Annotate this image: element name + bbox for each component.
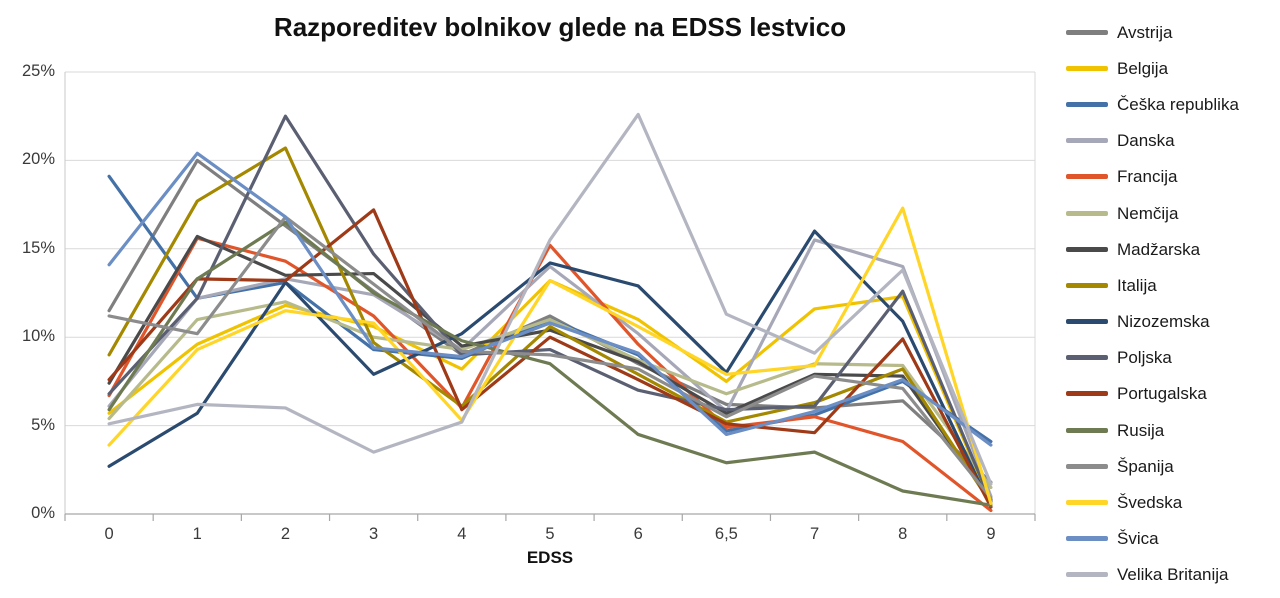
- legend-item[interactable]: Italija: [1066, 267, 1280, 303]
- x-tickmarks: [65, 514, 1035, 521]
- legend-item[interactable]: Poljska: [1066, 340, 1280, 376]
- legend-item[interactable]: Francija: [1066, 159, 1280, 195]
- legend-item-label: Švedska: [1117, 494, 1182, 511]
- legend-swatch-icon: [1066, 30, 1108, 35]
- x-axis-tick-label: 3: [344, 525, 404, 544]
- y-axis-tick-label: 15%: [3, 239, 55, 258]
- y-axis-tick-label: 25%: [3, 62, 55, 81]
- chart-container: Razporeditev bolnikov glede na EDSS lest…: [0, 0, 1280, 598]
- legend-swatch-icon: [1066, 391, 1108, 396]
- legend-swatch-icon: [1066, 464, 1108, 469]
- legend-item[interactable]: Nemčija: [1066, 195, 1280, 231]
- x-axis-tick-label: 2: [255, 525, 315, 544]
- legend-item[interactable]: Španija: [1066, 448, 1280, 484]
- x-axis-tick-label: 1: [167, 525, 227, 544]
- legend-swatch-icon: [1066, 211, 1108, 216]
- legend-item-label: Španija: [1117, 458, 1174, 475]
- x-axis-tick-label: 6: [608, 525, 668, 544]
- legend-swatch-icon: [1066, 174, 1108, 179]
- legend-item[interactable]: Portugalska: [1066, 376, 1280, 412]
- legend-item-label: Madžarska: [1117, 241, 1200, 258]
- legend-item[interactable]: Nizozemska: [1066, 304, 1280, 340]
- series-line: [109, 153, 991, 445]
- y-axis-tick-label: 10%: [3, 327, 55, 346]
- legend-swatch-icon: [1066, 138, 1108, 143]
- series-lines: [109, 114, 991, 510]
- legend-item-label: Portugalska: [1117, 385, 1207, 402]
- legend-item[interactable]: Rusija: [1066, 412, 1280, 448]
- legend-item-label: Francija: [1117, 168, 1177, 185]
- x-axis-tick-label: 7: [785, 525, 845, 544]
- y-axis-tick-label: 5%: [3, 416, 55, 435]
- legend-item-label: Nizozemska: [1117, 313, 1210, 330]
- axis-lines: [65, 72, 1035, 514]
- legend-item[interactable]: Švedska: [1066, 484, 1280, 520]
- y-axis-tick-label: 20%: [3, 150, 55, 169]
- legend-swatch-icon: [1066, 355, 1108, 360]
- series-line: [109, 231, 991, 507]
- series-line: [109, 217, 991, 498]
- x-axis-tick-label: 5: [520, 525, 580, 544]
- legend-item[interactable]: Danska: [1066, 123, 1280, 159]
- series-line: [109, 176, 991, 441]
- legend-item[interactable]: Madžarska: [1066, 231, 1280, 267]
- legend-swatch-icon: [1066, 247, 1108, 252]
- legend-swatch-icon: [1066, 500, 1108, 505]
- legend-swatch-icon: [1066, 283, 1108, 288]
- legend-item-label: Nemčija: [1117, 205, 1178, 222]
- chart-legend: AvstrijaBelgijaČeška republikaDanskaFran…: [1066, 14, 1280, 594]
- x-axis-tick-label: 8: [873, 525, 933, 544]
- legend-item-label: Belgija: [1117, 60, 1168, 77]
- legend-item-label: Danska: [1117, 132, 1175, 149]
- legend-item[interactable]: Avstrija: [1066, 14, 1280, 50]
- legend-item-label: Švica: [1117, 530, 1159, 547]
- legend-item-label: Avstrija: [1117, 24, 1172, 41]
- legend-item-label: Velika Britanija: [1117, 566, 1229, 583]
- legend-item-label: Italija: [1117, 277, 1157, 294]
- x-axis-tick-label: 6,5: [696, 525, 756, 544]
- legend-swatch-icon: [1066, 66, 1108, 71]
- legend-swatch-icon: [1066, 319, 1108, 324]
- x-axis-title: EDSS: [450, 548, 650, 568]
- legend-swatch-icon: [1066, 102, 1108, 107]
- x-axis-tick-label: 0: [79, 525, 139, 544]
- y-axis-tick-label: 0%: [3, 504, 55, 523]
- legend-item[interactable]: Belgija: [1066, 50, 1280, 86]
- legend-swatch-icon: [1066, 428, 1108, 433]
- legend-item[interactable]: Velika Britanija: [1066, 557, 1280, 593]
- legend-swatch-icon: [1066, 572, 1108, 577]
- legend-item[interactable]: Švica: [1066, 521, 1280, 557]
- legend-item-label: Češka republika: [1117, 96, 1239, 113]
- legend-item[interactable]: Češka republika: [1066, 86, 1280, 122]
- legend-swatch-icon: [1066, 536, 1108, 541]
- x-axis-tick-label: 9: [961, 525, 1021, 544]
- x-axis-tick-label: 4: [432, 525, 492, 544]
- legend-item-label: Poljska: [1117, 349, 1172, 366]
- legend-item-label: Rusija: [1117, 422, 1164, 439]
- gridlines: [65, 72, 1035, 514]
